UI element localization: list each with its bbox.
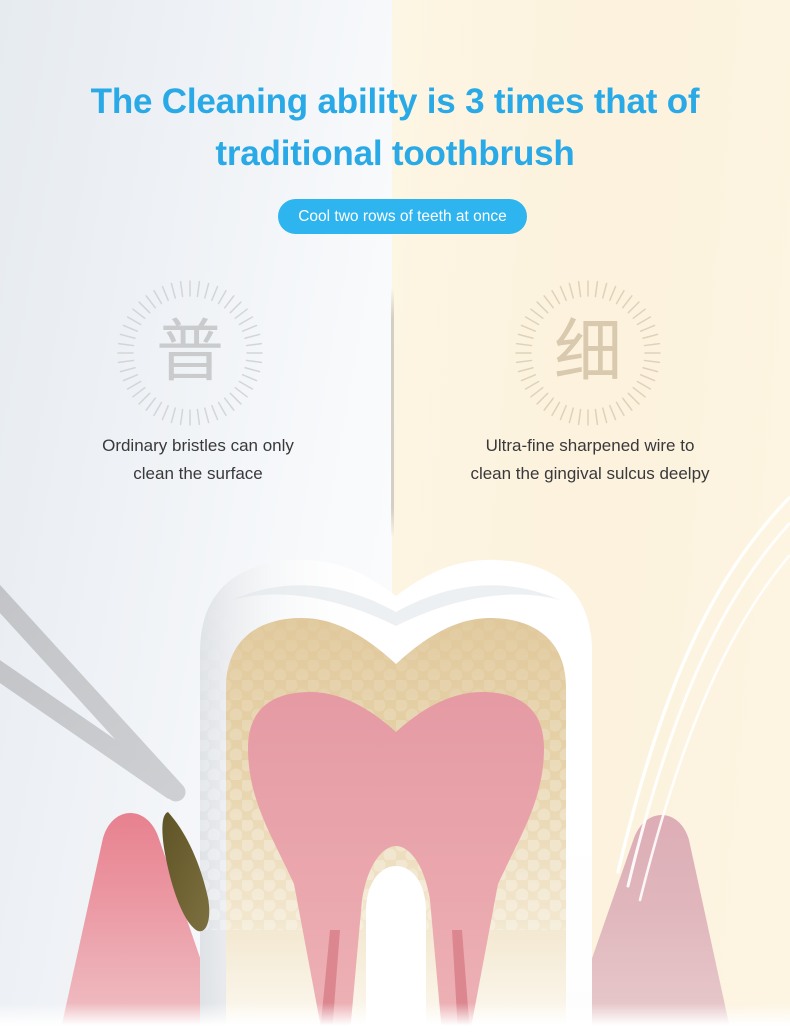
watermark-glyph-ultrafine: 细 — [513, 278, 663, 428]
headline-line-1: The Cleaning ability is 3 times that of — [91, 82, 700, 121]
caption-ordinary-line-2: clean the surface — [48, 460, 348, 488]
status-badge: Cool two rows of teeth at once — [278, 199, 527, 234]
headline-line-2: traditional toothbrush — [40, 128, 750, 180]
watermark-badge-ultrafine: 细 — [513, 278, 663, 428]
caption-ultrafine: Ultra-fine sharpened wire to clean the g… — [430, 432, 750, 487]
caption-ordinary: Ordinary bristles can only clean the sur… — [48, 432, 348, 487]
caption-ultrafine-line-1: Ultra-fine sharpened wire to — [430, 432, 750, 460]
caption-ultrafine-line-2: clean the gingival sulcus deelpy — [430, 460, 750, 488]
bottom-fade — [0, 1003, 790, 1033]
watermark-glyph-ordinary: 普 — [115, 278, 265, 428]
caption-ordinary-line-1: Ordinary bristles can only — [48, 432, 348, 460]
tooth-body — [140, 560, 660, 1033]
panel-divider — [391, 288, 394, 538]
infographic-poster: The Cleaning ability is 3 times that of … — [0, 0, 790, 1033]
ordinary-bristles — [0, 588, 176, 792]
page-title: The Cleaning ability is 3 times that of … — [40, 76, 750, 180]
watermark-badge-ordinary: 普 — [115, 278, 265, 428]
